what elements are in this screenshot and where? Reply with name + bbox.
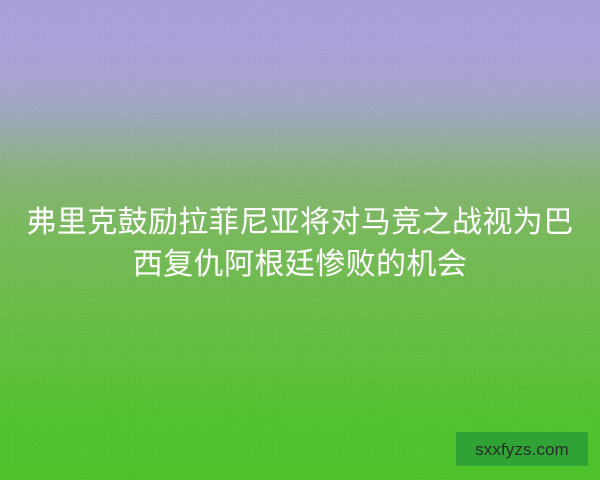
watermark-text: sxxfyzs.com — [475, 441, 569, 458]
headline-image-canvas: 弗里克鼓励拉菲尼亚将对马竞之战视为巴西复仇阿根廷惨败的机会 sxxfyzs.co… — [0, 0, 600, 480]
headline-text: 弗里克鼓励拉菲尼亚将对马竞之战视为巴西复仇阿根廷惨败的机会 — [0, 202, 600, 286]
watermark-badge: sxxfyzs.com — [456, 432, 588, 466]
